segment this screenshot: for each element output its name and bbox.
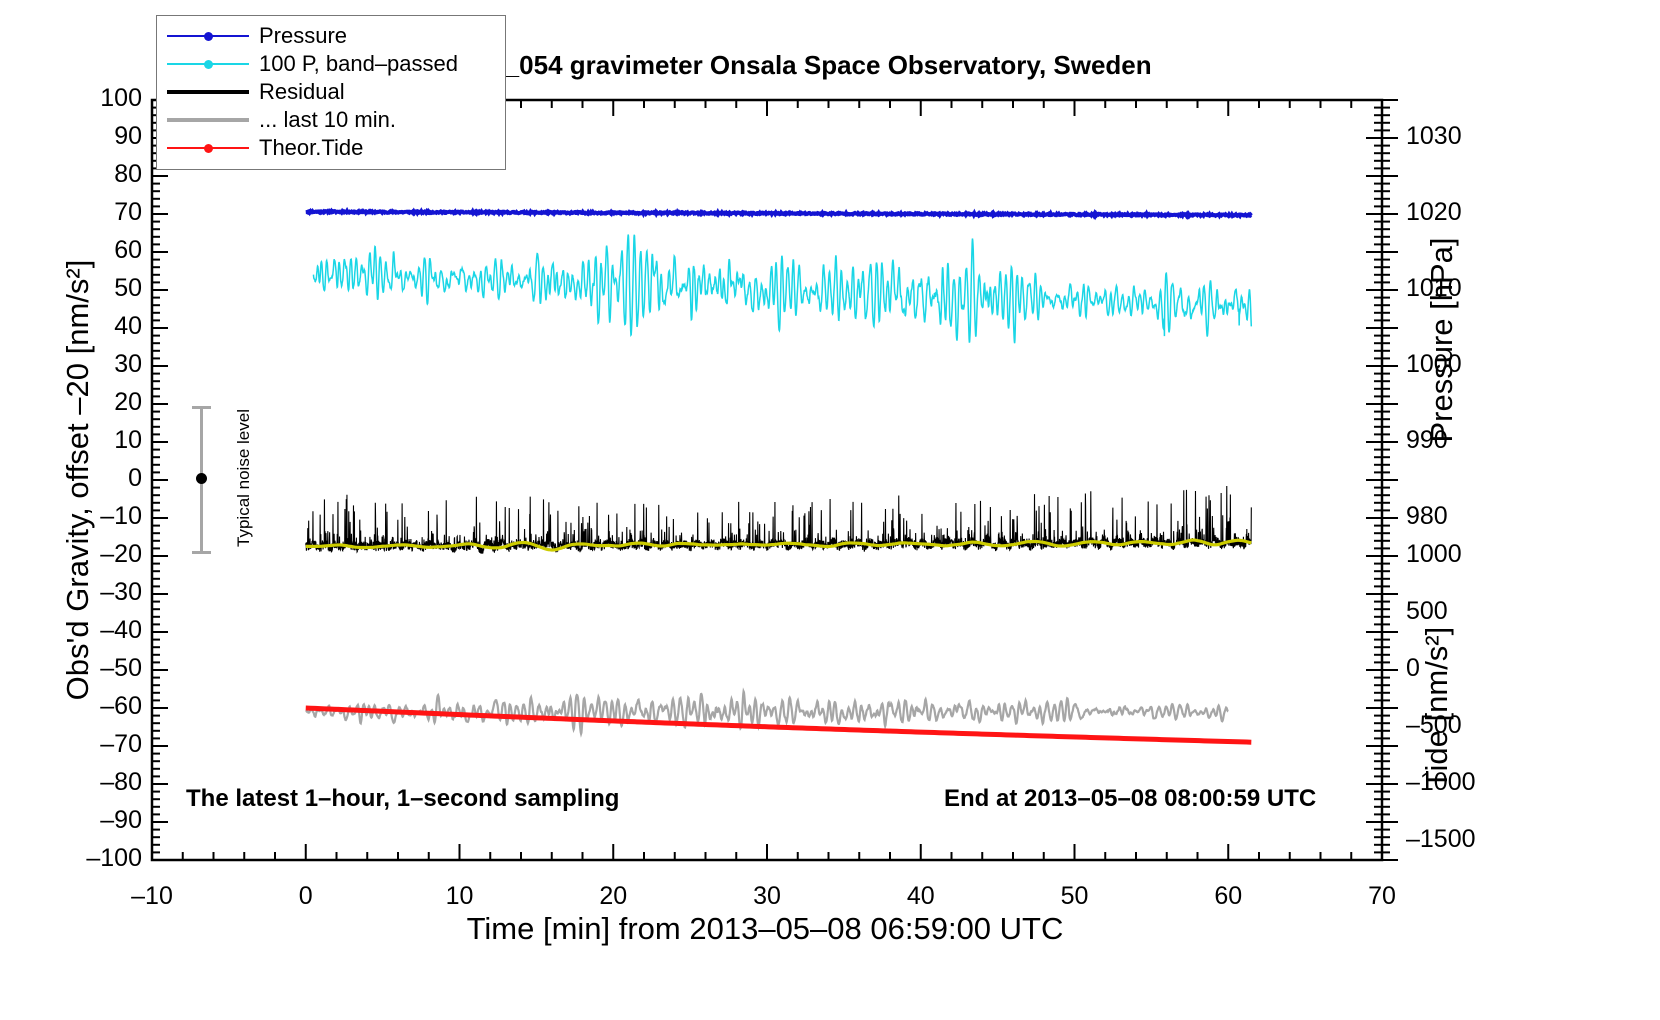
x-tick-label: 0: [256, 882, 356, 911]
x-tick-label: 20: [563, 882, 663, 911]
x-tick-label: 50: [1025, 882, 1125, 911]
x-tick-label: –10: [102, 882, 202, 911]
x-axis-tick-labels: –10010203040506070: [0, 0, 1660, 1020]
x-tick-label: 60: [1178, 882, 1278, 911]
x-tick-label: 40: [871, 882, 971, 911]
plot-page: SCG_054 gravimeter Onsala Space Observat…: [0, 0, 1660, 1020]
x-tick-label: 30: [717, 882, 817, 911]
x-tick-label: 10: [410, 882, 510, 911]
x-tick-label: 70: [1332, 882, 1432, 911]
